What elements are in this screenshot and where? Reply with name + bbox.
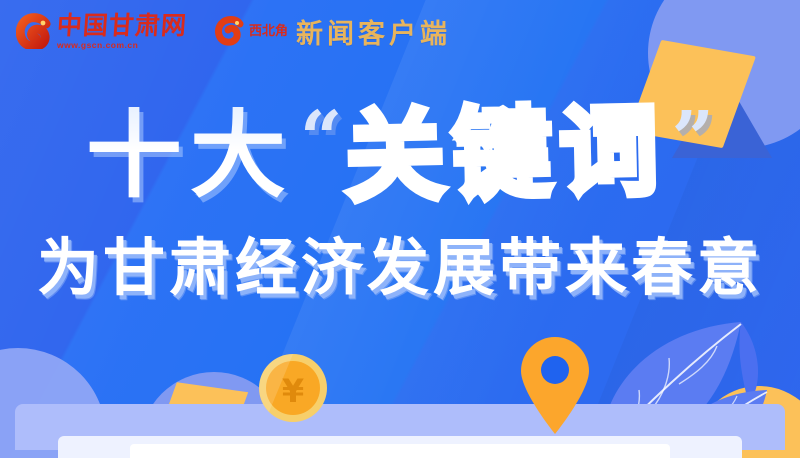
quote-open-mark: “	[300, 102, 343, 176]
card-layer-white	[130, 444, 670, 458]
northwest-app-title: 新闻客户端	[296, 12, 451, 51]
site-header: 中国甘肃网 www.gscn.com.cn 西北角 新闻客户端	[0, 0, 800, 62]
northwest-logo[interactable]: 西北角 新闻客户端	[215, 12, 451, 51]
northwest-seal-text: 西北角	[249, 25, 288, 38]
poster-subtitle-line: 为甘肃经济发展带来春意	[0, 225, 800, 311]
poster-title-line1: 十大 “ 关键词 ”	[0, 96, 800, 214]
northwest-swirl-icon	[215, 15, 245, 47]
quote-close-mark: ”	[672, 102, 715, 176]
poster-canvas: ¥ 中国甘肃网 www.gscn.com.cn	[0, 0, 800, 458]
gansu-logo-url: www.gscn.com.cn	[57, 41, 187, 50]
gansu-logo-name: 中国甘肃网	[56, 13, 188, 38]
gansu-swirl-icon	[16, 13, 52, 49]
poster-subtitle-text: 为甘肃经济发展带来春意	[37, 237, 763, 299]
yuan-coin-icon: ¥	[258, 353, 328, 423]
coin-symbol-text: ¥	[282, 372, 304, 410]
title-keyword-text: 关键词	[341, 103, 672, 208]
location-pin-icon	[518, 335, 592, 435]
title-prefix-text: 十大	[86, 107, 300, 203]
gansu-logo[interactable]: 中国甘肃网 www.gscn.com.cn	[16, 13, 187, 50]
